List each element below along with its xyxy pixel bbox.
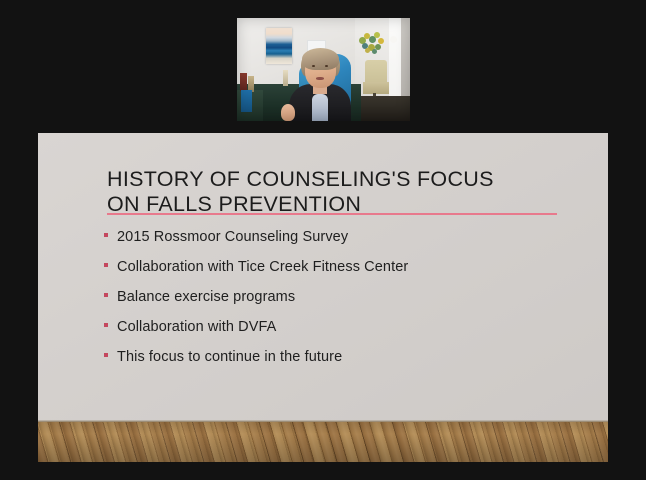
bullet-marker-icon bbox=[104, 293, 108, 297]
bullet-text: This focus to continue in the future bbox=[117, 349, 342, 365]
slide-bullet-list: 2015 Rossmoor Counseling Survey Collabor… bbox=[104, 229, 574, 379]
bullet-text: Collaboration with DVFA bbox=[117, 319, 276, 335]
presenter-webcam-video[interactable] bbox=[237, 18, 410, 121]
bullet-marker-icon bbox=[104, 263, 108, 267]
presentation-slide[interactable]: HISTORY OF COUNSELING'S FOCUS ON FALLS P… bbox=[38, 133, 608, 462]
presentation-viewer: HISTORY OF COUNSELING'S FOCUS ON FALLS P… bbox=[0, 0, 646, 480]
bullet-text: Collaboration with Tice Creek Fitness Ce… bbox=[117, 259, 408, 275]
bullet-marker-icon bbox=[104, 233, 108, 237]
title-underline-rule bbox=[107, 213, 557, 215]
floor-shading-overlay bbox=[38, 422, 608, 462]
list-item: This focus to continue in the future bbox=[104, 349, 574, 379]
list-item: Collaboration with DVFA bbox=[104, 319, 574, 349]
list-item: 2015 Rossmoor Counseling Survey bbox=[104, 229, 574, 259]
slide-title: HISTORY OF COUNSELING'S FOCUS ON FALLS P… bbox=[107, 167, 567, 217]
bullet-text: 2015 Rossmoor Counseling Survey bbox=[117, 229, 348, 245]
bullet-text: Balance exercise programs bbox=[117, 289, 295, 305]
list-item: Collaboration with Tice Creek Fitness Ce… bbox=[104, 259, 574, 289]
video-vignette bbox=[237, 18, 410, 121]
bullet-marker-icon bbox=[104, 323, 108, 327]
bullet-marker-icon bbox=[104, 353, 108, 357]
list-item: Balance exercise programs bbox=[104, 289, 574, 319]
